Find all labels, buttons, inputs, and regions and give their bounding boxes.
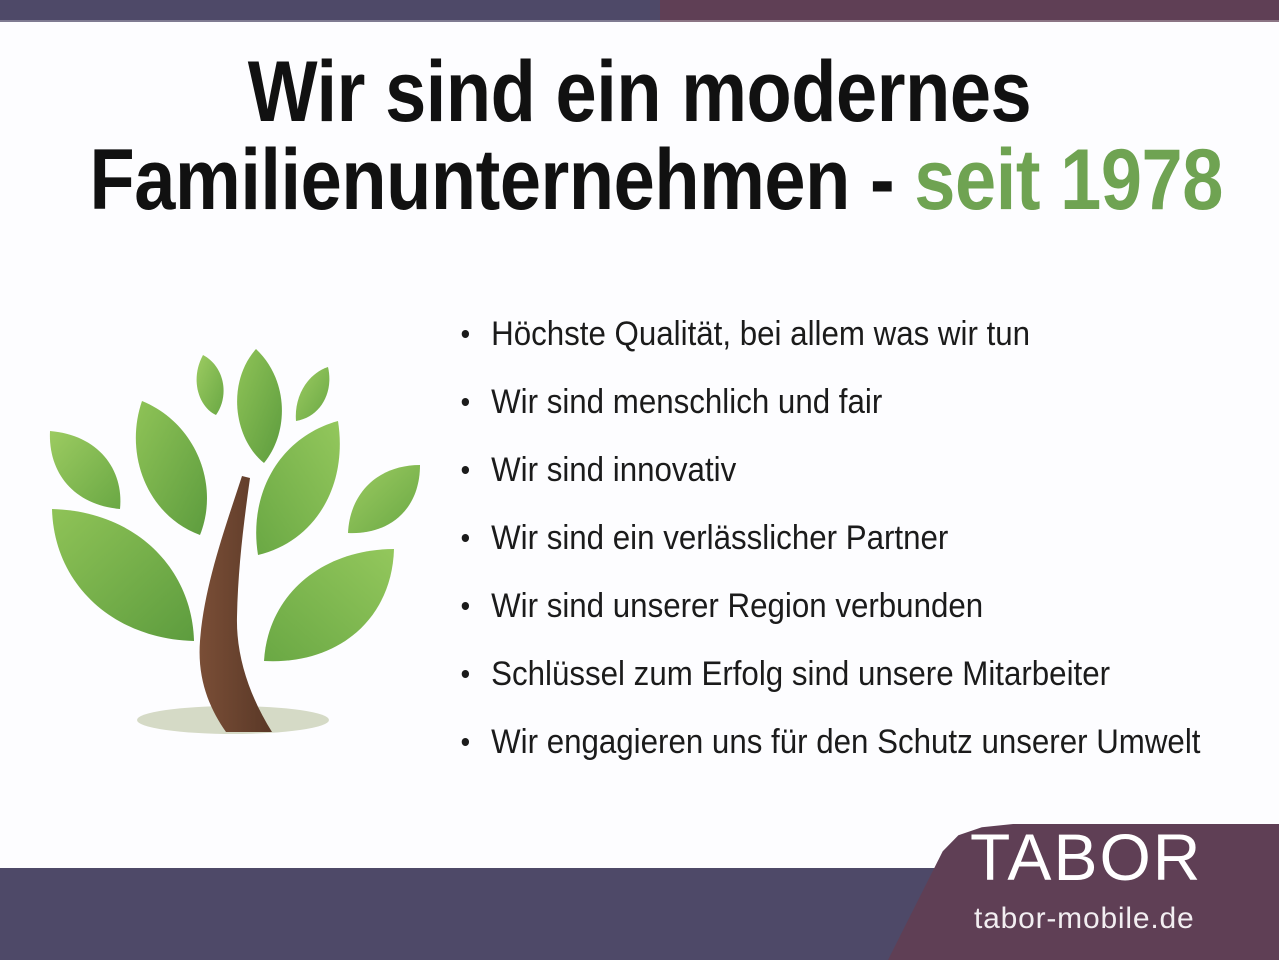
list-item-label: Wir sind ein verlässlicher Partner	[491, 519, 948, 557]
tree-leaf-4	[136, 401, 207, 535]
list-item-label: Höchste Qualität, bei allem was wir tun	[491, 315, 1030, 353]
top-bar-left-segment	[0, 0, 660, 22]
list-item: Wir sind menschlich und fair	[458, 368, 1203, 436]
bullet-marker-icon	[462, 398, 469, 406]
bullet-marker-icon	[462, 738, 469, 746]
list-item: Wir engagieren uns für den Schutz unsere…	[458, 708, 1203, 776]
bullet-marker-icon	[462, 534, 469, 542]
page-title: Wir sind ein modernes Familienunternehme…	[90, 48, 1190, 224]
tree-leaf-3	[296, 367, 330, 421]
list-item: Wir sind innovativ	[458, 436, 1203, 504]
tree-illustration	[28, 335, 438, 755]
headline-line-2: Familienunternehmen - seit 1978	[90, 136, 1190, 224]
top-bar-right-segment	[660, 0, 1279, 22]
list-item-label: Wir sind menschlich und fair	[491, 383, 882, 421]
logo-website: tabor-mobile.de	[974, 904, 1194, 934]
tree-leaf-8	[52, 509, 194, 641]
bullet-marker-icon	[462, 602, 469, 610]
logo-wordmark: TABOR	[970, 824, 1202, 890]
tree-leaf-1	[197, 355, 224, 415]
list-item-label: Wir engagieren uns für den Schutz unsere…	[491, 723, 1200, 761]
tree-leaf-9	[264, 549, 394, 661]
logo-badge: TABOR tabor-mobile.de	[888, 800, 1279, 960]
tree-leaf-5	[50, 431, 121, 509]
headline-accent-year: seit 1978	[914, 132, 1223, 228]
tree-leaf-7	[348, 465, 420, 533]
headline-line-1: Wir sind ein modernes	[90, 48, 1190, 136]
list-item: Höchste Qualität, bei allem was wir tun	[458, 300, 1203, 368]
value-list: Höchste Qualität, bei allem was wir tun …	[458, 300, 1268, 776]
tree-leaf-2	[237, 349, 282, 463]
list-item-label: Wir sind innovativ	[491, 451, 736, 489]
bullet-marker-icon	[462, 670, 469, 678]
list-item: Wir sind unserer Region verbunden	[458, 572, 1203, 640]
list-item-label: Wir sind unserer Region verbunden	[491, 587, 983, 625]
slide: Wir sind ein modernes Familienunternehme…	[0, 0, 1279, 960]
list-item: Schlüssel zum Erfolg sind unsere Mitarbe…	[458, 640, 1203, 708]
bullet-marker-icon	[462, 466, 469, 474]
bullet-marker-icon	[462, 330, 469, 338]
list-item: Wir sind ein verlässlicher Partner	[458, 504, 1203, 572]
list-item-label: Schlüssel zum Erfolg sind unsere Mitarbe…	[491, 655, 1110, 693]
top-decorative-bar	[0, 0, 1279, 22]
headline-line-2-main: Familienunternehmen -	[90, 132, 915, 228]
